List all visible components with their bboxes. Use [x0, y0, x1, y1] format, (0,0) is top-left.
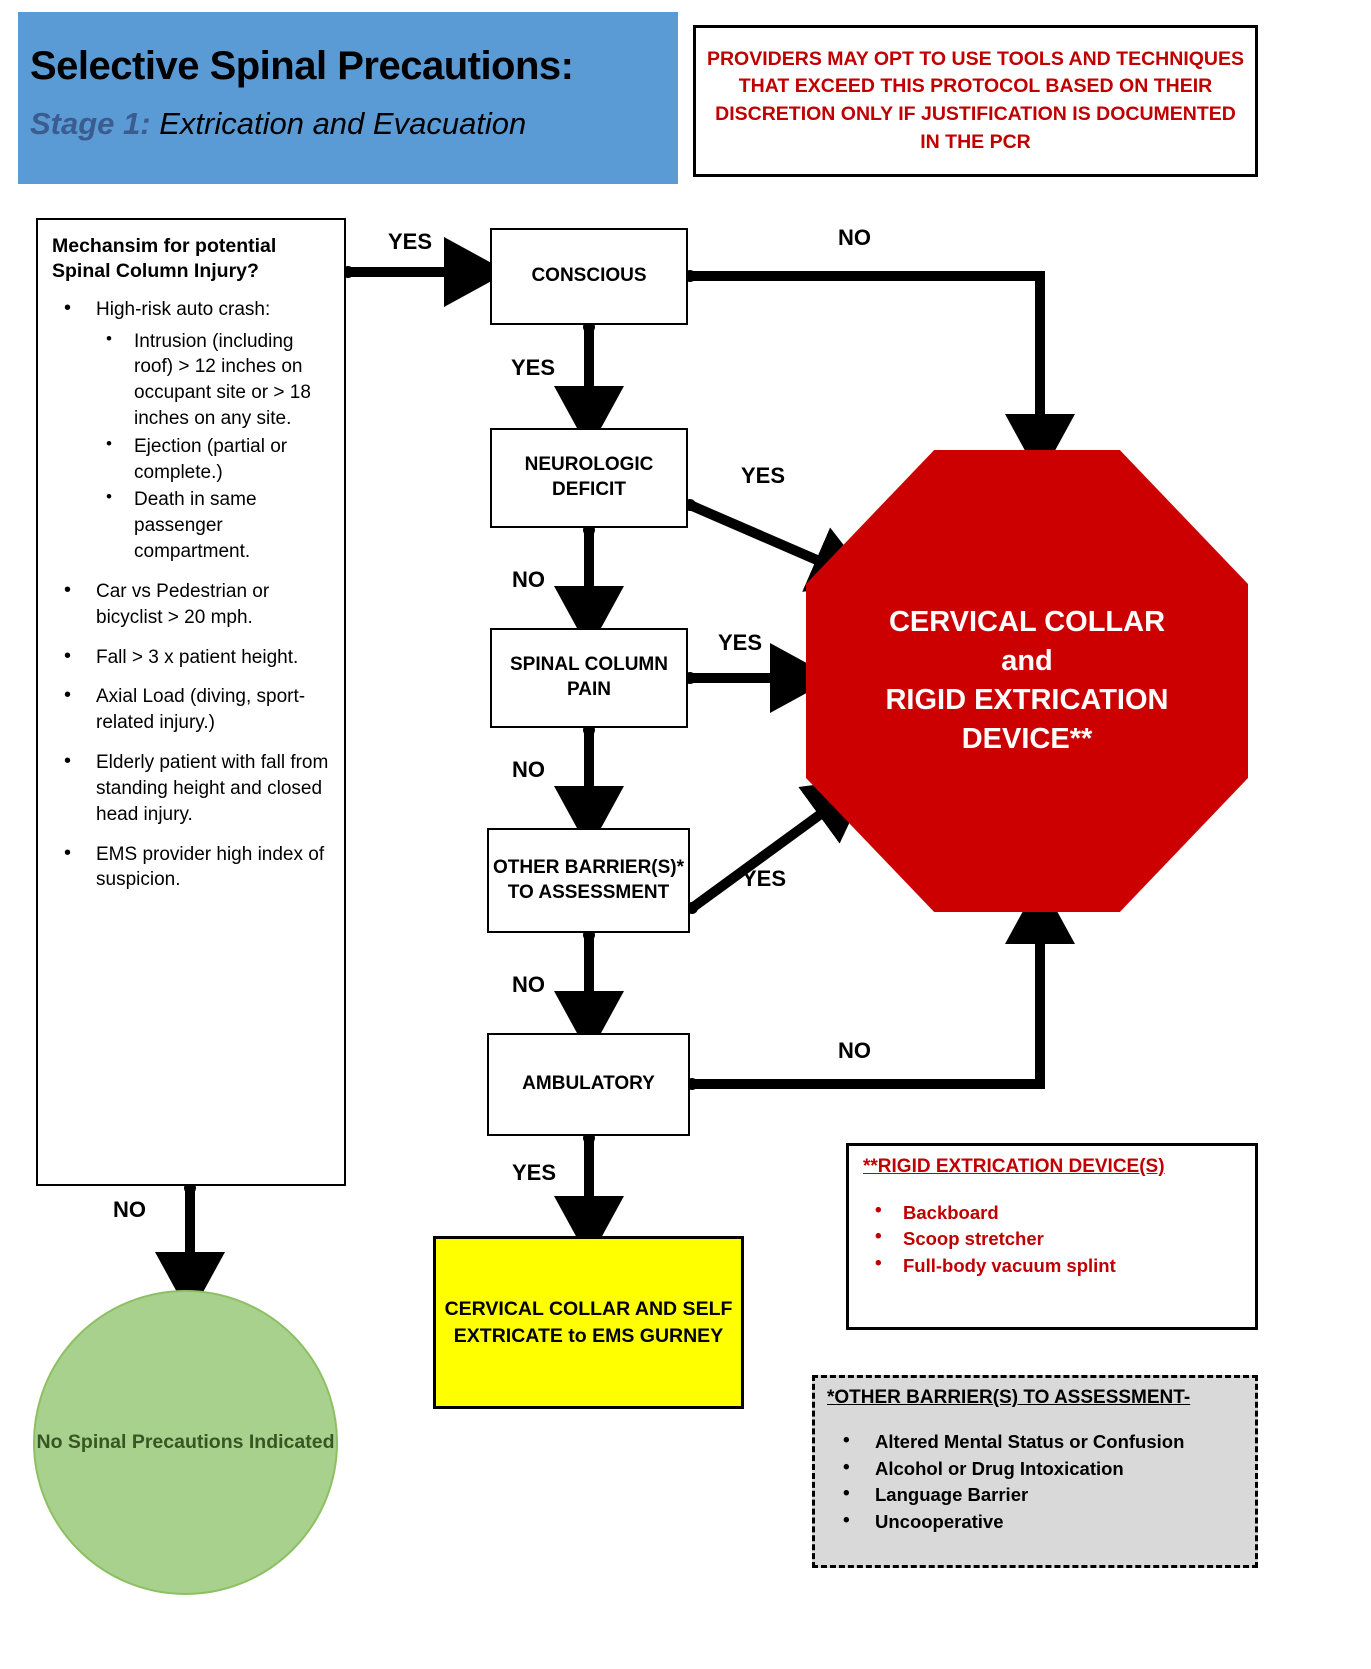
edge-label-mechanism-no: NO: [113, 1197, 146, 1223]
octagon-line-1: CERVICAL COLLAR: [833, 603, 1222, 642]
page-subtitle: Stage 1: Extrication and Evacuation: [30, 106, 670, 142]
provider-discretion-notice: PROVIDERS MAY OPT TO USE TOOLS AND TECHN…: [693, 25, 1258, 177]
edge-label-ambulatory-yes: YES: [512, 1160, 556, 1186]
decision-neurologic-deficit[interactable]: NEUROLOGIC DEFICIT: [490, 428, 688, 528]
rigid-devices-title: **RIGID EXTRICATION DEVICE(S): [863, 1156, 1243, 1178]
mechanism-subitem: Death in same passenger compartment.: [96, 487, 332, 564]
other-barriers-list: Altered Mental Status or ConfusionAlcoho…: [827, 1429, 1245, 1536]
edge-conscious-no: [690, 276, 1040, 440]
header-band: [18, 12, 678, 184]
octagon-label: CERVICAL COLLAR and RIGID EXTRICATION DE…: [833, 603, 1222, 758]
rigid-device-item: Backboard: [863, 1200, 1243, 1226]
no-spinal-precautions-outcome: No Spinal Precautions Indicated: [33, 1290, 338, 1595]
decision-other-barriers[interactable]: OTHER BARRIER(S)* TO ASSESSMENT: [487, 828, 690, 933]
edge-label-ambulatory-no: NO: [838, 1038, 871, 1064]
decision-other-barriers-label: OTHER BARRIER(S)* TO ASSESSMENT: [489, 856, 688, 905]
mechanism-subitem: Ejection (partial or complete.): [96, 434, 332, 486]
rigid-device-item: Full-body vacuum splint: [863, 1253, 1243, 1279]
mechanism-item-label: Elderly patient with fall from standing …: [96, 752, 328, 825]
edge-label-barriers-no: NO: [512, 972, 545, 998]
mechanism-list: High-risk auto crash:Intrusion (includin…: [52, 297, 332, 894]
self-extricate-outcome: CERVICAL COLLAR AND SELF EXTRICATE to EM…: [433, 1236, 744, 1409]
decision-conscious-label: CONSCIOUS: [531, 264, 646, 289]
mechanism-item: EMS provider high index of suspicion.: [52, 842, 332, 894]
cervical-collar-outcome-octagon: CERVICAL COLLAR and RIGID EXTRICATION DE…: [806, 450, 1248, 912]
decision-conscious[interactable]: CONSCIOUS: [490, 228, 688, 325]
edge-label-pain-no: NO: [512, 757, 545, 783]
edge-neuro-yes: [690, 505, 840, 570]
stage-label: Stage 1:: [30, 106, 151, 141]
decision-neurologic-deficit-label: NEUROLOGIC DEFICIT: [492, 453, 686, 502]
octagon-line-3: RIGID EXTRICATION: [833, 681, 1222, 720]
other-barrier-item: Language Barrier: [827, 1482, 1245, 1509]
mechanism-subitem: Intrusion (including roof) > 12 inches o…: [96, 329, 332, 432]
mechanism-item: Elderly patient with fall from standing …: [52, 750, 332, 827]
edge-label-neuro-yes: YES: [741, 463, 785, 489]
other-barriers-title: *OTHER BARRIER(S) TO ASSESSMENT-: [827, 1387, 1245, 1409]
other-barrier-item: Uncooperative: [827, 1509, 1245, 1536]
rigid-extrication-devices-legend: **RIGID EXTRICATION DEVICE(S) BackboardS…: [846, 1143, 1258, 1330]
other-barriers-legend: *OTHER BARRIER(S) TO ASSESSMENT- Altered…: [812, 1375, 1258, 1568]
mechanism-item-label: High-risk auto crash:: [96, 299, 270, 320]
octagon-line-2: and: [833, 642, 1222, 681]
decision-ambulatory-label: AMBULATORY: [522, 1072, 655, 1097]
notice-text: PROVIDERS MAY OPT TO USE TOOLS AND TECHN…: [696, 46, 1255, 157]
other-barrier-item: Alcohol or Drug Intoxication: [827, 1456, 1245, 1483]
edge-label-conscious-no: NO: [838, 225, 871, 251]
mechanism-item-label: Axial Load (diving, sport-related injury…: [96, 686, 305, 733]
no-spinal-precautions-label: No Spinal Precautions Indicated: [37, 1429, 335, 1455]
rigid-devices-list: BackboardScoop stretcherFull-body vacuum…: [863, 1200, 1243, 1279]
mechanism-item-label: Car vs Pedestrian or bicyclist > 20 mph.: [96, 581, 269, 628]
mechanism-title: Mechansim for potential Spinal Column In…: [52, 234, 332, 285]
mechanism-item: Fall > 3 x patient height.: [52, 645, 332, 671]
page-title: Selective Spinal Precautions:: [30, 44, 670, 89]
mechanism-item-label: EMS provider high index of suspicion.: [96, 844, 324, 891]
edge-label-barriers-yes: YES: [742, 866, 786, 892]
mechanism-item: High-risk auto crash:Intrusion (includin…: [52, 297, 332, 565]
mechanism-item: Axial Load (diving, sport-related injury…: [52, 684, 332, 736]
flowchart-canvas: Selective Spinal Precautions: Stage 1: E…: [0, 0, 1371, 1669]
octagon-line-4: DEVICE**: [833, 720, 1222, 759]
mechanism-item-label: Fall > 3 x patient height.: [96, 647, 298, 668]
rigid-device-item: Scoop stretcher: [863, 1226, 1243, 1252]
edge-label-mechanism-yes: YES: [388, 229, 432, 255]
mechanism-sublist: Intrusion (including roof) > 12 inches o…: [96, 329, 332, 565]
other-barrier-item: Altered Mental Status or Confusion: [827, 1429, 1245, 1456]
mechanism-item: Car vs Pedestrian or bicyclist > 20 mph.: [52, 579, 332, 631]
edge-label-conscious-yes: YES: [511, 355, 555, 381]
decision-spinal-column-pain[interactable]: SPINAL COLUMN PAIN: [490, 628, 688, 728]
mechanism-criteria-box: Mechansim for potential Spinal Column In…: [36, 218, 346, 1186]
self-extricate-label: CERVICAL COLLAR AND SELF EXTRICATE to EM…: [436, 1296, 741, 1350]
decision-ambulatory[interactable]: AMBULATORY: [487, 1033, 690, 1136]
edge-label-pain-yes: YES: [718, 630, 762, 656]
edge-label-neuro-no: NO: [512, 567, 545, 593]
decision-spinal-column-pain-label: SPINAL COLUMN PAIN: [492, 653, 686, 702]
stage-text: Extrication and Evacuation: [159, 106, 526, 141]
